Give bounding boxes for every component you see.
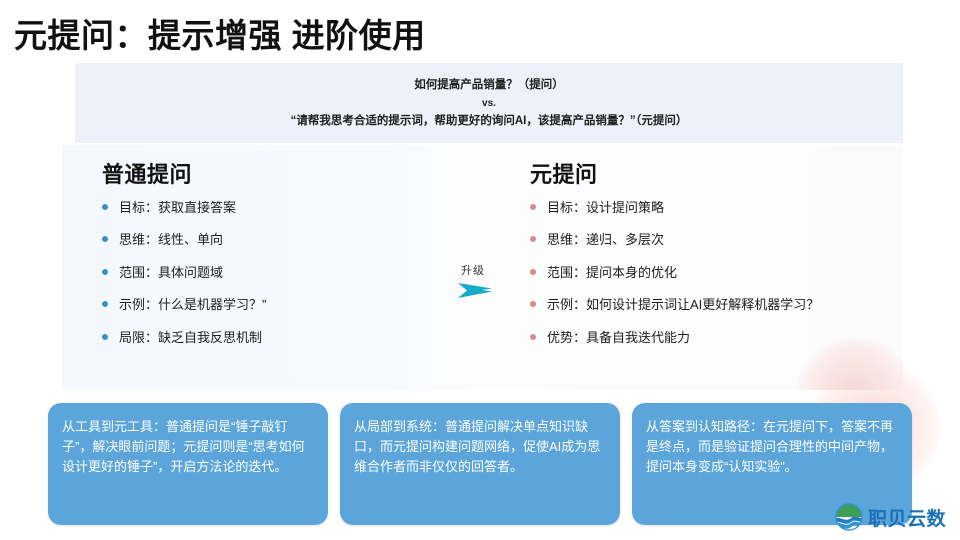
brand-logo: 职贝云数 <box>834 502 946 532</box>
header-vs-label: vs. <box>482 98 496 109</box>
list-item: 思维：递归、多层次 <box>530 231 902 249</box>
list-item-label: 范围：具体问题域 <box>119 264 467 282</box>
bullet-dot-icon <box>530 301 536 307</box>
bullet-dot-icon <box>102 204 108 210</box>
upgrade-indicator: 升级 <box>458 262 506 301</box>
list-item-label: 思维：递归、多层次 <box>547 231 902 249</box>
list-item: 局限：缺乏自我反思机制 <box>102 329 467 347</box>
page-title: 元提问：提示增强 进阶使用 <box>14 9 426 57</box>
arrow-right-icon <box>458 279 504 301</box>
slide-root: 元提问：提示增强 进阶使用 如何提高产品销量？（提问） vs. “请帮我思考合适… <box>0 0 960 540</box>
list-item: 思维：线性、单向 <box>102 231 467 249</box>
bullet-dot-icon <box>102 301 108 307</box>
globe-wave-icon <box>834 502 864 532</box>
header-question-line-2: “请帮我思考合适的提示词，帮助更好的询问AI，该提高产品销量？”（元提问） <box>291 115 688 128</box>
column-ordinary-question: 普通提问 目标：获取直接答案 思维：线性、单向 范围：具体问题域 示例：什么是机… <box>102 145 467 361</box>
bullet-dot-icon <box>102 334 108 340</box>
list-item: 目标：设计提问策略 <box>530 199 902 217</box>
bullet-dot-icon <box>102 269 108 275</box>
list-item: 范围：具体问题域 <box>102 264 467 282</box>
list-item: 范围：提问本身的优化 <box>530 264 902 282</box>
header-question-box: 如何提高产品销量？（提问） vs. “请帮我思考合适的提示词，帮助更好的询问AI… <box>75 63 903 143</box>
brand-logo-text: 职贝云数 <box>868 504 946 531</box>
summary-card-2: 从局部到系统：普通提问解决单点知识缺口，而元提问构建问题网络，促使AI成为思维合… <box>340 403 620 525</box>
list-item: 示例：什么是机器学习？” <box>102 296 467 314</box>
bullet-dot-icon <box>530 334 536 340</box>
bullet-dot-icon <box>530 269 536 275</box>
list-item-label: 局限：缺乏自我反思机制 <box>119 329 467 347</box>
list-item-label: 示例：什么是机器学习？” <box>119 296 467 314</box>
list-item-label: 目标：获取直接答案 <box>119 199 467 217</box>
bullet-dot-icon <box>102 236 108 242</box>
summary-card-1: 从工具到元工具：普通提问是“锤子敲钉子”，解决眼前问题；元提问则是“思考如何设计… <box>48 403 328 525</box>
list-item-label: 示例：如何设计提示词让AI更好解释机器学习？ <box>547 296 902 314</box>
summary-card-row: 从工具到元工具：普通提问是“锤子敲钉子”，解决眼前问题；元提问则是“思考如何设计… <box>48 403 912 525</box>
upgrade-label: 升级 <box>461 262 506 278</box>
bullet-dot-icon <box>530 204 536 210</box>
list-item-label: 优势：具备自我迭代能力 <box>547 329 902 347</box>
list-item-label: 目标：设计提问策略 <box>547 199 902 217</box>
list-item-label: 思维：线性、单向 <box>119 231 467 249</box>
bullet-dot-icon <box>530 236 536 242</box>
list-item: 目标：获取直接答案 <box>102 199 467 217</box>
column-right-heading: 元提问 <box>530 157 902 189</box>
column-meta-question: 元提问 目标：设计提问策略 思维：递归、多层次 范围：提问本身的优化 示例：如何… <box>530 145 902 361</box>
list-item-label: 范围：提问本身的优化 <box>547 264 902 282</box>
list-item: 示例：如何设计提示词让AI更好解释机器学习？ <box>530 296 902 314</box>
column-right-bullet-list: 目标：设计提问策略 思维：递归、多层次 范围：提问本身的优化 示例：如何设计提示… <box>530 199 902 347</box>
column-left-bullet-list: 目标：获取直接答案 思维：线性、单向 范围：具体问题域 示例：什么是机器学习？”… <box>102 199 467 347</box>
header-question-line-1: 如何提高产品销量？（提问） <box>414 79 564 92</box>
list-item: 优势：具备自我迭代能力 <box>530 329 902 347</box>
column-left-heading: 普通提问 <box>102 157 467 189</box>
